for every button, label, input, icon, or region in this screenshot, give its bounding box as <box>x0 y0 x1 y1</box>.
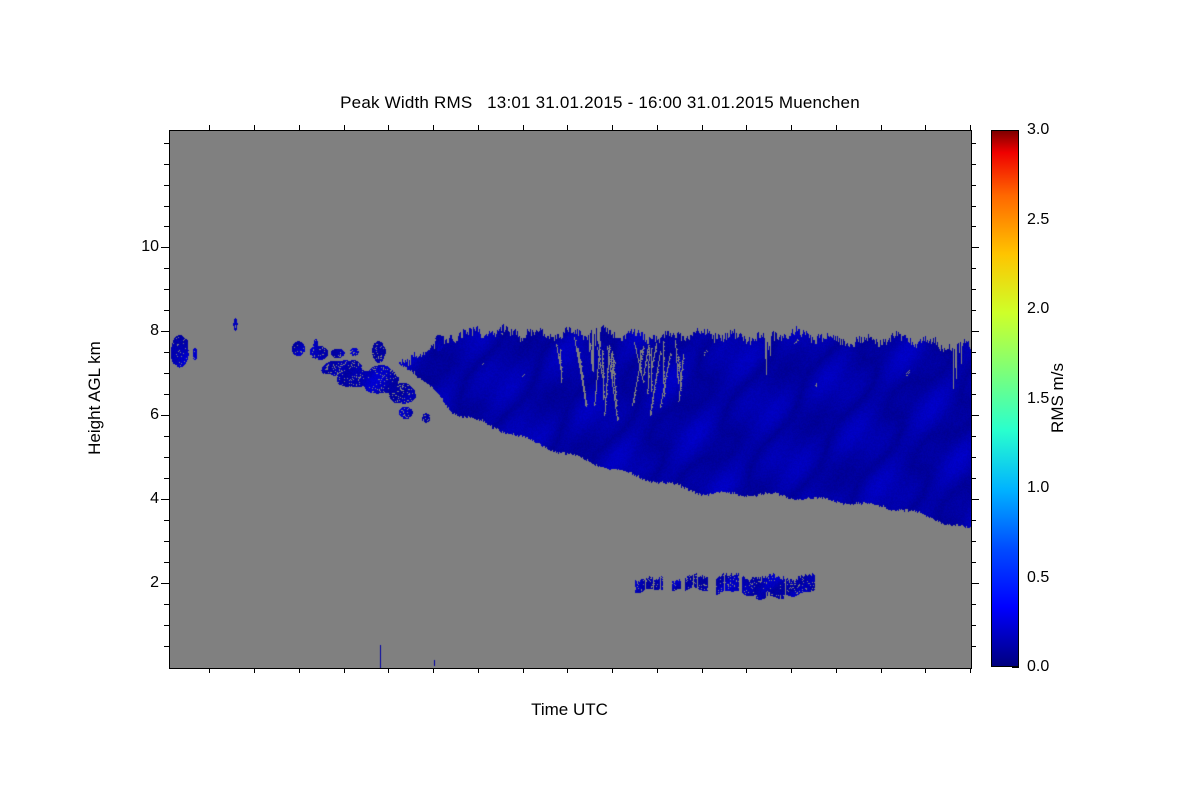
x-axis-tick-minor <box>567 668 568 673</box>
x-axis-tick-top <box>433 125 434 130</box>
y-axis-tick-right <box>971 164 976 165</box>
y-axis-tick-major <box>161 583 169 584</box>
y-axis-tick-minor <box>164 625 169 626</box>
y-axis-tick-right <box>971 289 976 290</box>
x-axis-tick-top <box>881 125 882 130</box>
y-axis-tick-minor <box>164 436 169 437</box>
heatmap-data-canvas <box>170 131 971 668</box>
y-axis-tick-major <box>161 499 169 500</box>
y-axis-tick-minor <box>164 478 169 479</box>
y-axis-tick-right <box>971 310 976 311</box>
x-axis-tick-top <box>344 125 345 130</box>
y-axis-tick-right <box>971 247 979 248</box>
y-axis-tick-right <box>971 583 979 584</box>
x-axis-tick-minor <box>254 668 255 673</box>
x-axis-tick-minor <box>388 668 389 673</box>
y-axis-tick-minor <box>164 373 169 374</box>
y-axis-tick-minor <box>164 185 169 186</box>
x-axis-tick-minor <box>970 668 971 673</box>
y-axis-tick-right <box>971 143 976 144</box>
y-axis-tick-right <box>971 562 976 563</box>
y-axis-tick-right <box>971 206 976 207</box>
chart-figure: Peak Width RMS 13:01 31.01.2015 - 16:00 … <box>0 0 1200 800</box>
x-axis-tick-minor <box>344 668 345 673</box>
x-axis-tick-minor <box>702 668 703 673</box>
x-axis-tick-top <box>567 125 568 130</box>
y-axis-tick-right <box>971 436 976 437</box>
y-axis-tick-minor <box>164 562 169 563</box>
colorbar-tick-major <box>1012 667 1019 668</box>
y-axis-tick-minor <box>164 520 169 521</box>
y-axis-tick-right <box>971 226 976 227</box>
colorbar-tick-label: 2.0 <box>1027 300 1049 318</box>
x-axis-tick-top <box>209 125 210 130</box>
y-axis-tick-right <box>971 457 976 458</box>
x-axis-tick-minor <box>657 668 658 673</box>
plot-area <box>169 130 972 669</box>
x-axis-tick-minor <box>836 668 837 673</box>
x-axis-tick-top <box>746 125 747 130</box>
colorbar-tick-label: 0.0 <box>1027 658 1049 676</box>
x-axis-tick-top <box>478 125 479 130</box>
x-axis-tick-minor <box>523 668 524 673</box>
colorbar-tick-label: 0.5 <box>1027 569 1049 587</box>
y-axis-tick-minor <box>164 164 169 165</box>
y-axis-tick-label: 10 <box>119 238 159 256</box>
y-axis-tick-right <box>971 604 976 605</box>
x-axis-label: Time UTC <box>169 700 970 720</box>
y-axis-tick-right <box>971 185 976 186</box>
y-axis-tick-minor <box>164 604 169 605</box>
y-axis-tick-minor <box>164 394 169 395</box>
y-axis-tick-right <box>971 625 976 626</box>
y-axis-tick-minor <box>164 226 169 227</box>
y-axis-tick-major <box>161 415 169 416</box>
colorbar-tick-label: 1.5 <box>1027 390 1049 408</box>
y-axis-tick-minor <box>164 310 169 311</box>
x-axis-tick-minor <box>881 668 882 673</box>
x-axis-tick-top <box>836 125 837 130</box>
y-axis-tick-label: 6 <box>119 406 159 424</box>
y-axis-tick-label: 8 <box>119 322 159 340</box>
y-axis-tick-right <box>971 331 979 332</box>
x-axis-tick-minor <box>612 668 613 673</box>
y-axis-tick-right <box>971 268 976 269</box>
colorbar-tick-label: 3.0 <box>1027 121 1049 139</box>
y-axis-tick-right <box>971 415 979 416</box>
y-axis-tick-right <box>971 541 976 542</box>
x-axis-tick-top <box>702 125 703 130</box>
colorbar-gradient <box>991 130 1019 667</box>
x-axis-tick-minor <box>478 668 479 673</box>
x-axis-tick-minor <box>433 668 434 673</box>
y-axis-tick-minor <box>164 289 169 290</box>
colorbar-tick-label: 1.0 <box>1027 479 1049 497</box>
y-axis-tick-right <box>971 394 976 395</box>
y-axis-tick-right <box>971 478 976 479</box>
chart-title: Peak Width RMS 13:01 31.01.2015 - 16:00 … <box>0 93 1200 113</box>
colorbar-label: RMS m/s <box>1048 363 1068 433</box>
x-axis-tick-top <box>299 125 300 130</box>
y-axis-tick-minor <box>164 541 169 542</box>
y-axis-tick-minor <box>164 268 169 269</box>
y-axis-tick-minor <box>164 206 169 207</box>
x-axis-tick-top <box>925 125 926 130</box>
y-axis-tick-minor <box>164 457 169 458</box>
x-axis-tick-minor <box>925 668 926 673</box>
y-axis-tick-right <box>971 499 979 500</box>
x-axis-tick-minor <box>791 668 792 673</box>
colorbar <box>991 130 1019 667</box>
x-axis-tick-top <box>791 125 792 130</box>
y-axis-tick-right <box>971 646 976 647</box>
y-axis-tick-major <box>161 331 169 332</box>
y-axis-tick-major <box>161 247 169 248</box>
x-axis-tick-minor <box>299 668 300 673</box>
x-axis-tick-minor <box>209 668 210 673</box>
y-axis-tick-right <box>971 352 976 353</box>
y-axis-tick-label: 4 <box>119 490 159 508</box>
x-axis-tick-top <box>523 125 524 130</box>
x-axis-tick-minor <box>746 668 747 673</box>
y-axis-tick-minor <box>164 352 169 353</box>
y-axis-tick-label: 2 <box>119 574 159 592</box>
x-axis-tick-top <box>254 125 255 130</box>
x-axis-tick-top <box>657 125 658 130</box>
x-axis-tick-top <box>970 125 971 130</box>
y-axis-tick-right <box>971 373 976 374</box>
y-axis-label: Height AGL km <box>85 341 105 455</box>
colorbar-tick-label: 2.5 <box>1027 211 1049 229</box>
y-axis-tick-minor <box>164 646 169 647</box>
x-axis-tick-top <box>612 125 613 130</box>
y-axis-tick-right <box>971 520 976 521</box>
y-axis-tick-minor <box>164 143 169 144</box>
x-axis-tick-top <box>388 125 389 130</box>
